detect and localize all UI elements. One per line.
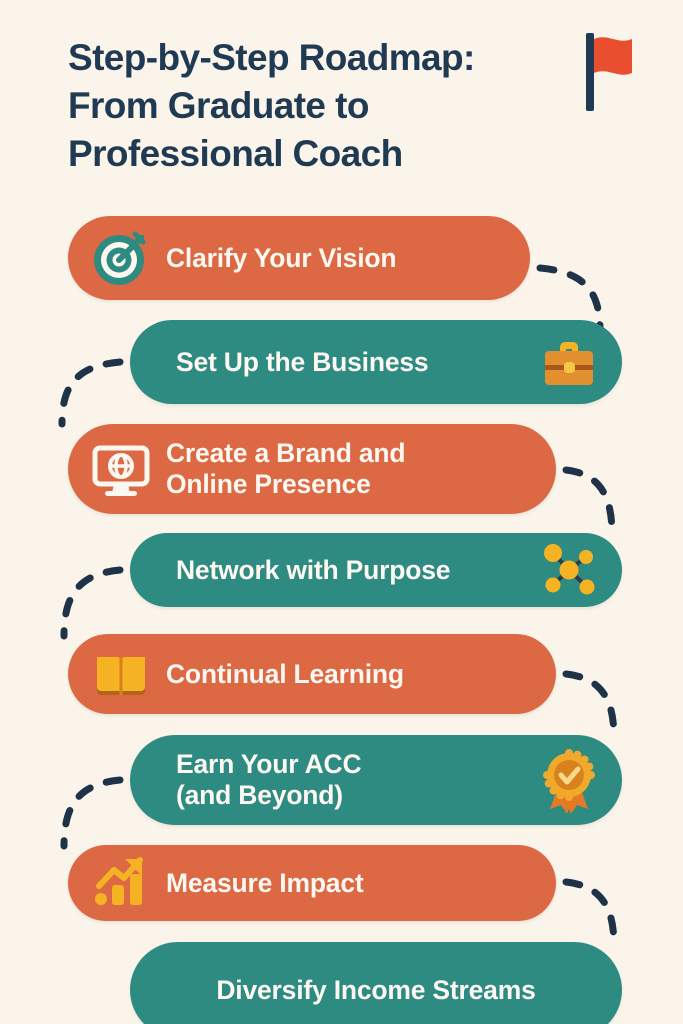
- step-item-8[interactable]: Diversify Income Streams: [130, 942, 622, 1024]
- step-item-1[interactable]: Clarify Your Vision: [68, 216, 530, 300]
- step-label-3: Create a Brand and Online Presence: [166, 438, 405, 499]
- network-nodes-icon: [536, 537, 602, 603]
- briefcase-icon: [536, 329, 602, 395]
- step-item-2[interactable]: Set Up the Business: [130, 320, 622, 404]
- page-title-block: Step-by-Step Roadmap: From Graduate to P…: [68, 34, 638, 178]
- step-item-7[interactable]: Measure Impact: [68, 845, 556, 921]
- step-label-6: Earn Your ACC (and Beyond): [176, 749, 361, 810]
- step-label-7: Measure Impact: [166, 868, 364, 899]
- step-item-3[interactable]: Create a Brand and Online Presence: [68, 424, 556, 514]
- connector-4-5: [64, 570, 120, 636]
- step-label-8: Diversify Income Streams: [216, 975, 535, 1006]
- step-item-4[interactable]: Network with Purpose: [130, 533, 622, 607]
- target-icon: [90, 227, 152, 289]
- monitor-globe-icon: [90, 438, 152, 500]
- connector-5-6: [566, 674, 614, 738]
- step-label-1: Clarify Your Vision: [166, 243, 396, 274]
- connector-7-8: [566, 882, 614, 946]
- connector-6-7: [64, 780, 120, 846]
- award-ribbon-icon: [536, 747, 602, 813]
- roadmap-infographic: Step-by-Step Roadmap: From Graduate to P…: [0, 0, 683, 1024]
- step-label-4: Network with Purpose: [176, 555, 450, 586]
- step-label-5: Continual Learning: [166, 659, 404, 690]
- step-label-2: Set Up the Business: [176, 347, 428, 378]
- step-item-5[interactable]: Continual Learning: [68, 634, 556, 714]
- flag-icon: [586, 33, 644, 111]
- connector-2-3: [62, 362, 120, 424]
- step-item-6[interactable]: Earn Your ACC (and Beyond): [130, 735, 622, 825]
- open-book-icon: [90, 643, 152, 705]
- connector-3-4: [566, 470, 612, 534]
- page-title: Step-by-Step Roadmap: From Graduate to P…: [68, 34, 638, 178]
- growth-chart-icon: [90, 852, 152, 914]
